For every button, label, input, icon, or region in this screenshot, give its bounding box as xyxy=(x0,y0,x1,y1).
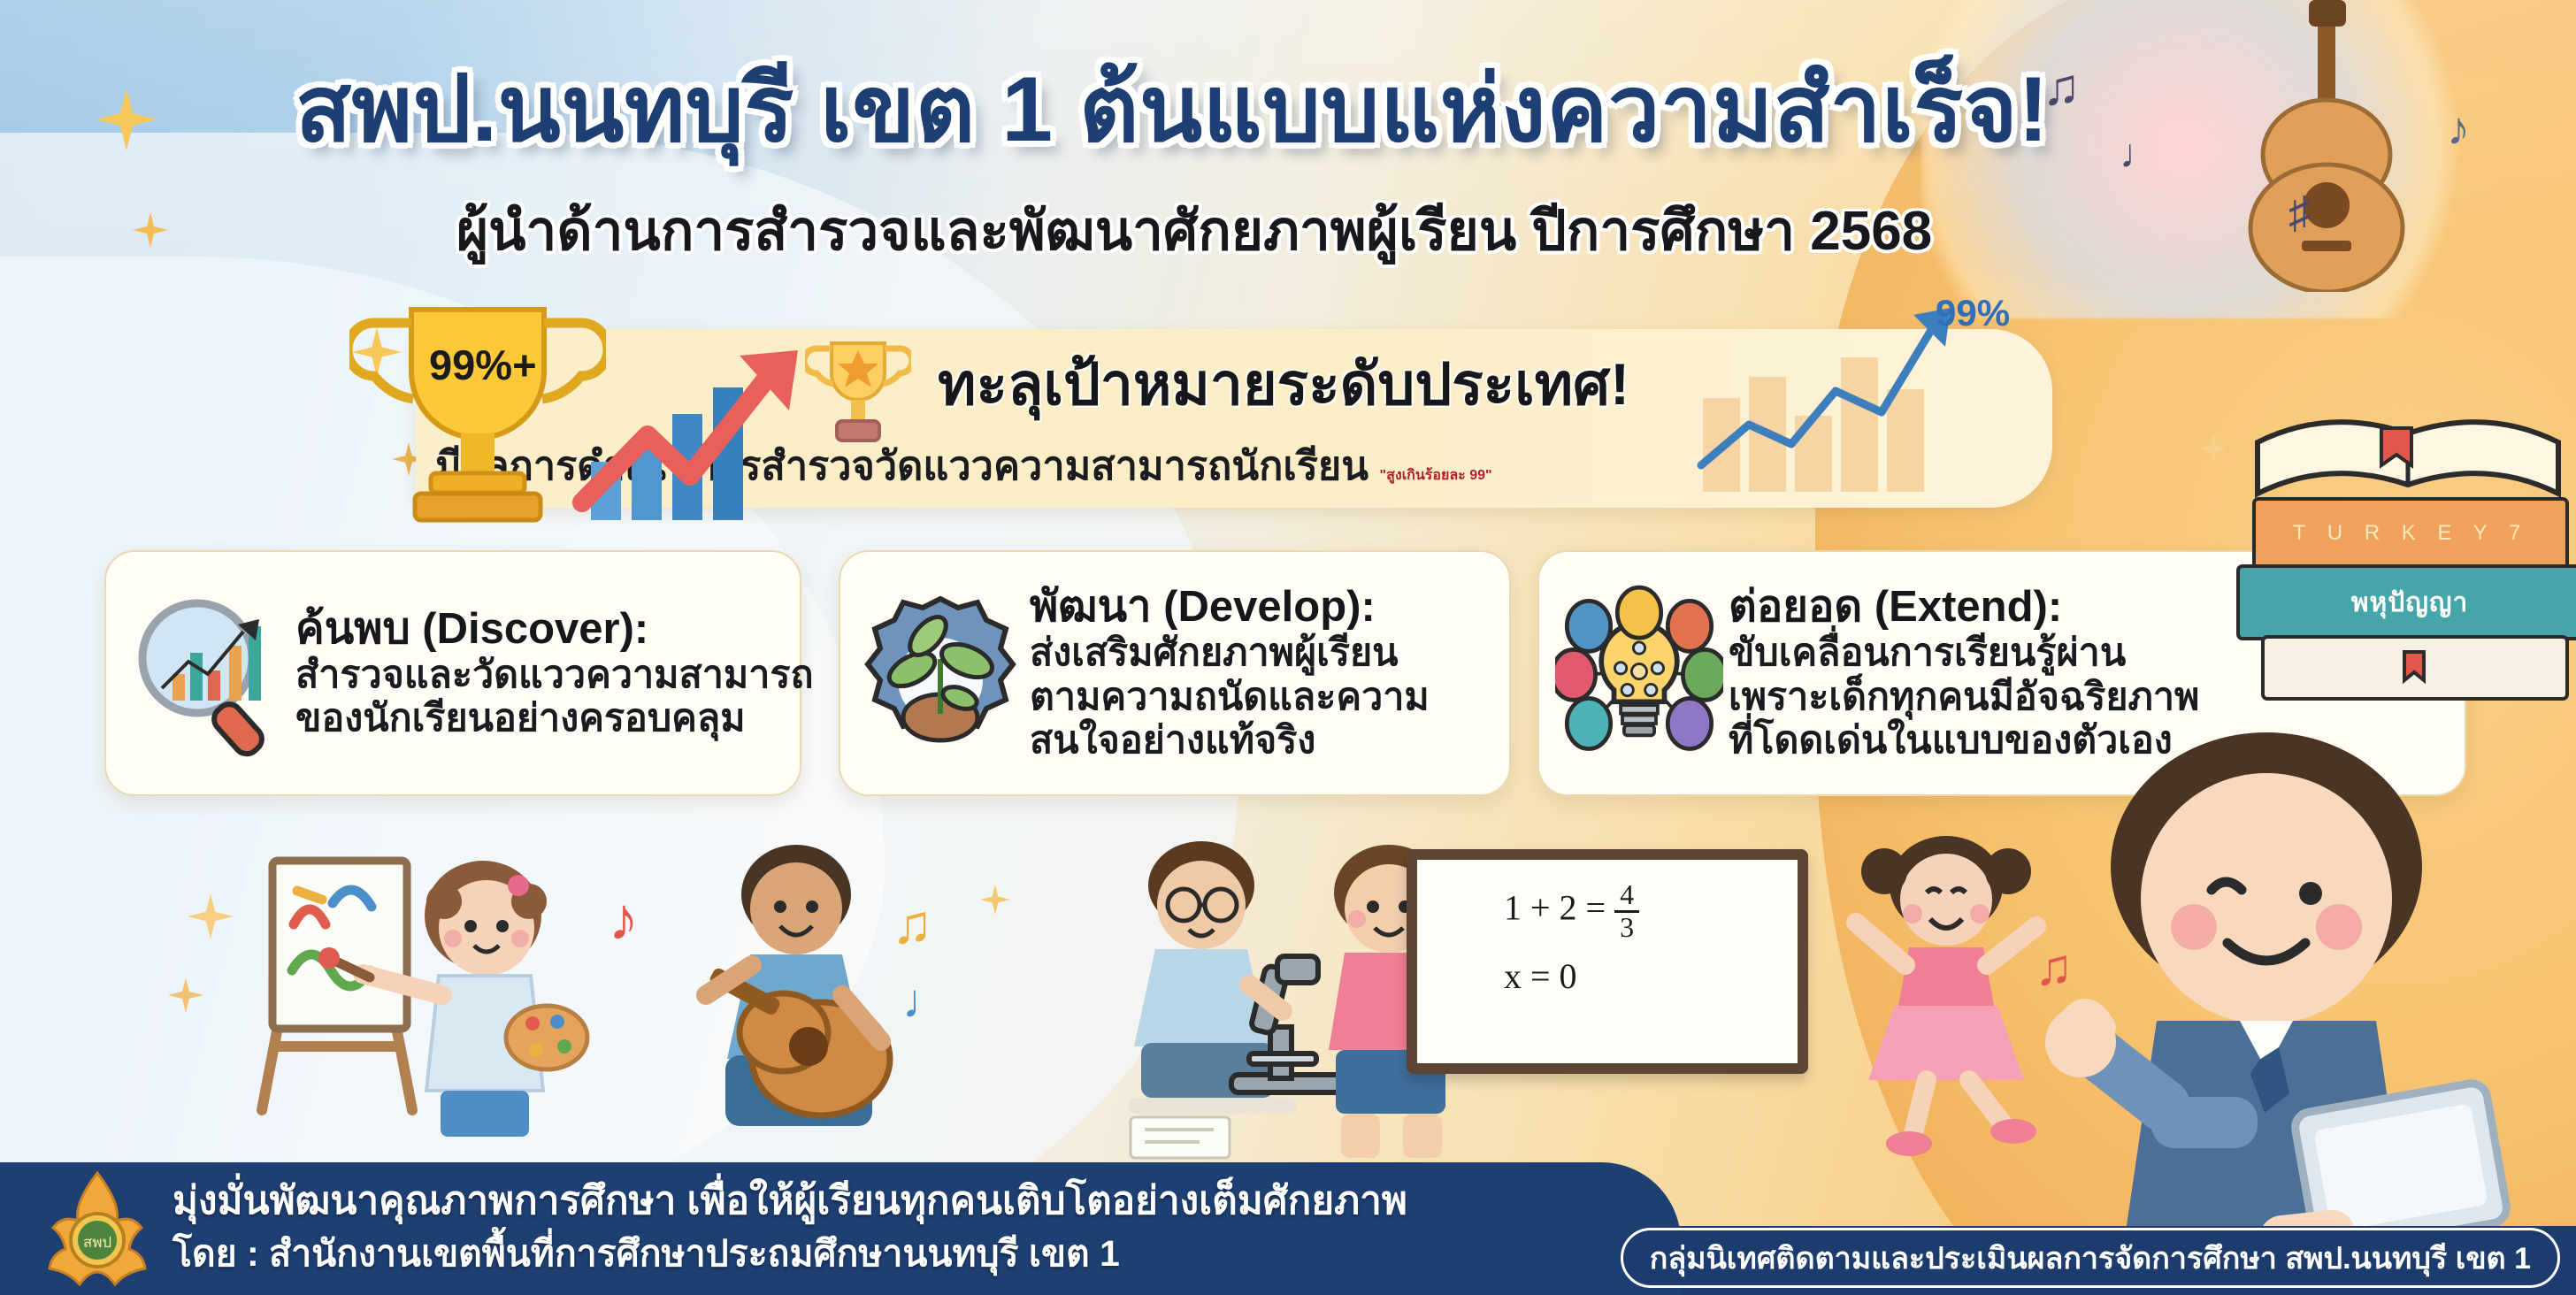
student-painter-icon xyxy=(221,809,602,1163)
blackboard-equation-2: x = 0 xyxy=(1504,955,1577,997)
card-develop-line-1: ส่งเสริมศักยภาพผู้เรียน xyxy=(1030,632,1493,676)
book-thai: พหุปัญญา xyxy=(2236,564,2576,640)
music-note-icon: ♪ xyxy=(609,889,639,949)
card-develop-text: พัฒนา (Develop): ส่งเสริมศักยภาพผู้เรียน… xyxy=(1024,583,1493,764)
footer-department-badge-label: กลุ่มนิเทศติดตามและประเมินผลการจัดการศึก… xyxy=(1650,1234,2531,1282)
fraction-numerator: 4 xyxy=(1614,880,1639,913)
lightbulb-network-icon xyxy=(1555,585,1723,762)
book-plain xyxy=(2261,635,2569,701)
page-title: สพป.นนทบุรี เขต 1 ต้นแบบแห่งความสำเร็จ! xyxy=(0,35,2344,181)
card-develop[interactable]: พัฒนา (Develop): ส่งเสริมศักยภาพผู้เรียน… xyxy=(839,550,1511,796)
card-discover[interactable]: ค้นพบ (Discover): สำรวจและวัดแววความสามา… xyxy=(104,550,801,796)
blackboard-equation-1: 1 + 2 = 43 xyxy=(1504,880,1639,942)
mascot-student-icon xyxy=(1974,716,2558,1295)
card-discover-text: ค้นพบ (Discover): สำรวจและวัดแววความสามา… xyxy=(290,605,813,742)
card-develop-body: ส่งเสริมศักยภาพผู้เรียน ตามความถนัดและคว… xyxy=(1030,632,1493,764)
footer-department-badge: กลุ่มนิเทศติดตามและประเมินผลการจัดการศึก… xyxy=(1621,1228,2560,1288)
trophy-icon-small xyxy=(805,336,911,451)
hero-detail-highlight: "สูงเกินร้อยละ 99" xyxy=(1380,468,1492,483)
book-turkey-label: T U R K E Y 7 xyxy=(2293,521,2528,546)
music-note-icon: ♪ xyxy=(2447,106,2470,152)
card-develop-line-3: สนใจอย่างแท้จริง xyxy=(1030,719,1493,763)
fraction-denominator: 3 xyxy=(1620,911,1634,943)
book-turkey: T U R K E Y 7 xyxy=(2252,497,2569,570)
hero-headline: ทะลุเป้าหมายระดับประเทศ! xyxy=(938,338,1629,431)
card-discover-body: สำรวจและวัดแววความสามารถ ของนักเรียนอย่า… xyxy=(295,654,813,742)
music-note-icon: ♫ xyxy=(892,898,933,953)
trophy-percent-badge: 99%+ xyxy=(429,341,537,389)
blackboard-equation-lhs: 1 + 2 = xyxy=(1504,887,1614,927)
infographic-poster: ♫ ♩ ♯ ♪ สพป.นนทบุรี เขต 1 ต้นแบบแห่งความ… xyxy=(0,0,2576,1295)
poster-subtitle-container: ผู้นำด้านการสำรวจและพัฒนาศักยภาพผู้เรียน… xyxy=(0,188,2388,274)
blackboard-fraction: 43 xyxy=(1614,880,1639,942)
growth-arrow-chart-icon xyxy=(566,329,832,533)
poster-title-container: สพป.นนทบุรี เขต 1 ต้นแบบแห่งความสำเร็จ! xyxy=(0,35,2344,181)
bookmark-icon xyxy=(2388,650,2442,686)
footer-line-1: มุ่งมั่นพัฒนาคุณภาพการศึกษา เพื่อให้ผู้เ… xyxy=(172,1169,1407,1231)
card-discover-line-1: สำรวจและวัดแววความสามารถ xyxy=(295,654,813,698)
garuda-seal-icon: สพป xyxy=(44,1171,150,1288)
card-discover-line-2: ของนักเรียนอย่างครอบคลุม xyxy=(295,697,813,741)
page-subtitle: ผู้นำด้านการสำรวจและพัฒนาศักยภาพผู้เรียน… xyxy=(0,188,2388,274)
hero-chart-peak-label: 99% xyxy=(1936,292,2010,334)
card-discover-heading: ค้นพบ (Discover): xyxy=(295,605,813,654)
footer-line-2: โดย : สำนักงานเขตพื้นที่การศึกษาประถมศึก… xyxy=(172,1225,1120,1283)
gear-sprout-icon xyxy=(856,585,1024,762)
book-stack: T U R K E Y 7 พหุปัญญา xyxy=(2231,442,2576,708)
card-develop-heading: พัฒนา (Develop): xyxy=(1030,583,1493,632)
sparkle-icon xyxy=(2198,433,2228,464)
book-thai-label: พหุปัญญา xyxy=(2351,582,2469,624)
music-note-icon: ♩ xyxy=(902,977,950,1025)
card-develop-line-2: ตามความถนัดและความ xyxy=(1030,676,1493,720)
magnifier-chart-icon xyxy=(122,585,290,762)
svg-text:สพป: สพป xyxy=(83,1234,111,1251)
